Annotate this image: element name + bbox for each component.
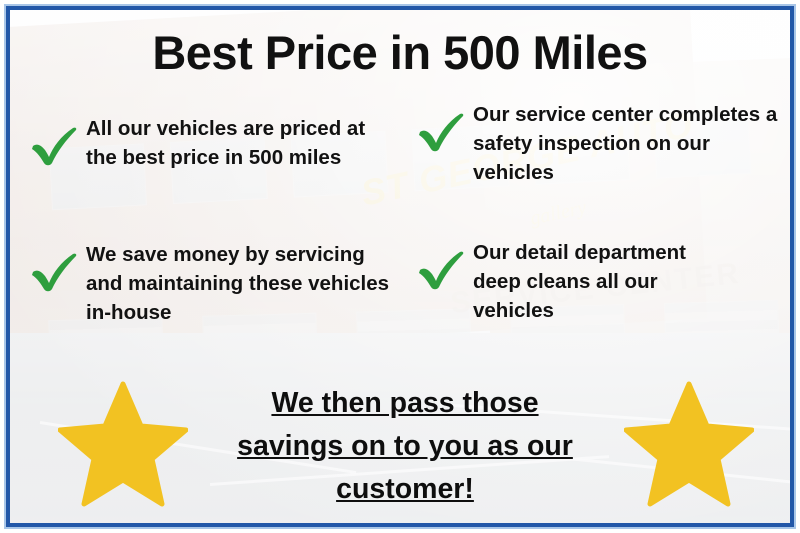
page-title: Best Price in 500 Miles: [10, 28, 790, 77]
benefit-text: We save money by servicing and maintaini…: [86, 240, 396, 327]
gold-star-icon: [58, 380, 188, 508]
benefit-item-detail-department: Our detail department deep cleans all ou…: [415, 238, 790, 325]
tagline: We then pass those savings on to you as …: [200, 382, 610, 510]
green-check-icon: [415, 242, 469, 296]
benefit-item-safety-inspection: Our service center completes a safety in…: [415, 100, 790, 187]
benefit-item-in-house-service: We save money by servicing and maintaini…: [28, 240, 418, 327]
green-check-icon: [28, 118, 82, 172]
tagline-line-2: savings on to you as our: [237, 430, 573, 462]
tagline-line-3: customer!: [336, 473, 474, 505]
promo-poster: ST GEORGE AUTO gallery SERVICE CENTER Be…: [0, 0, 800, 533]
gold-star-icon: [624, 380, 754, 508]
green-check-icon: [28, 244, 82, 298]
green-check-icon: [415, 104, 469, 158]
benefit-text: Our service center completes a safety in…: [473, 100, 778, 187]
tagline-line-1: We then pass those: [271, 387, 538, 419]
benefit-text: Our detail department deep cleans all ou…: [473, 238, 733, 325]
poster-content: Best Price in 500 Miles All our vehicles…: [10, 10, 790, 523]
benefit-text: All our vehicles are priced at the best …: [86, 114, 386, 172]
benefit-item-priced: All our vehicles are priced at the best …: [28, 114, 418, 172]
